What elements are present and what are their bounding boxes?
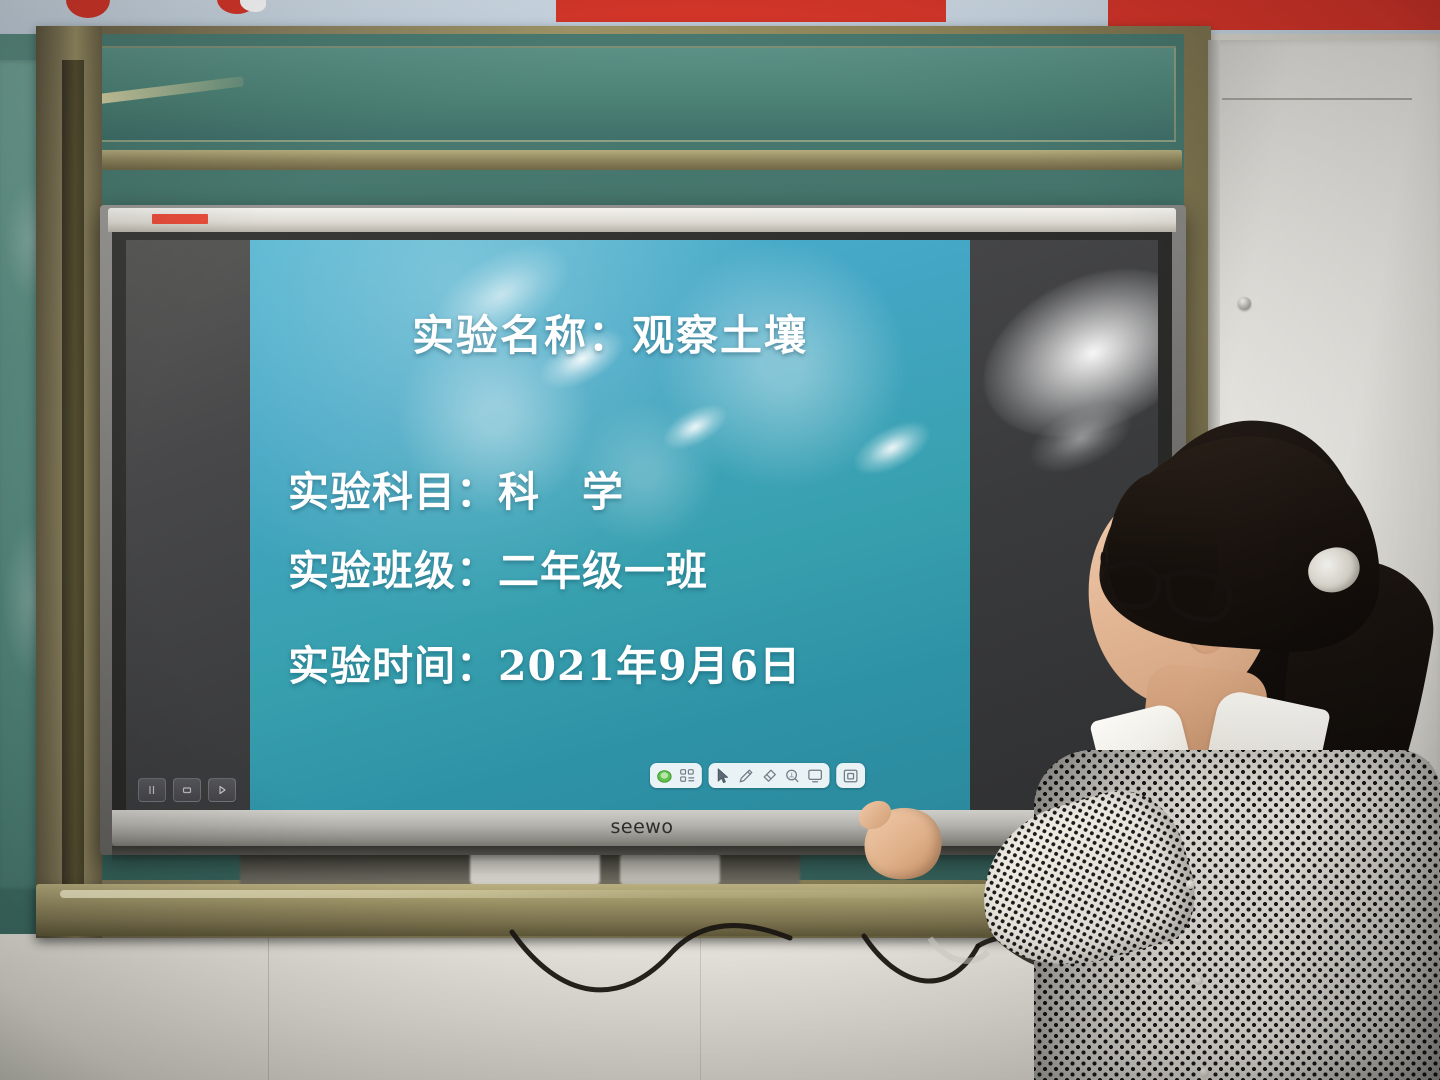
blouse-button	[1186, 880, 1195, 889]
seewo-logo-icon[interactable]	[654, 766, 675, 785]
right-cabinet-seam	[1222, 98, 1412, 100]
upper-chalkboard-strip	[84, 46, 1176, 142]
grid-menu-icon[interactable]	[677, 766, 698, 785]
display-red-sticker	[152, 214, 208, 224]
eraser-icon[interactable]	[758, 766, 779, 785]
menu-button[interactable]	[138, 778, 166, 802]
toolbar-tools-group[interactable]	[709, 763, 830, 788]
blouse-button	[1200, 1068, 1209, 1077]
frame-rail	[78, 150, 1182, 170]
poster-shape-triangle-icon	[66, 0, 110, 18]
board-frame-left-post-shadow	[62, 60, 84, 920]
slide-line-date: 实验时间：2021年9月6日	[288, 646, 948, 687]
toolbar-app-group[interactable]	[650, 763, 702, 788]
screenshot-icon[interactable]	[840, 766, 861, 785]
display-screen[interactable]: 实验名称：观察土壤 实验科目：科 学 实验班级：二年级一班 实验时间：2021年…	[126, 240, 1158, 810]
display-top-bezel	[108, 208, 1176, 232]
power-button[interactable]	[208, 778, 236, 802]
seewo-brand-logo: seewo	[611, 816, 674, 838]
cabinet-screw-icon	[1238, 297, 1251, 310]
classroom-scene: 实验名称：观察土壤 实验科目：科 学 实验班级：二年级一班 实验时间：2021年…	[0, 0, 1440, 1080]
seewo-floating-toolbar[interactable]	[650, 763, 865, 788]
slide-line-class: 实验班级：二年级一班	[288, 551, 948, 592]
home-button[interactable]	[173, 778, 201, 802]
spotlight-icon[interactable]	[782, 766, 803, 785]
slide-body: 实验科目：科 学 实验班级：二年级一班 实验时间：2021年9月6日	[288, 472, 948, 687]
presentation-slide[interactable]: 实验名称：观察土壤 实验科目：科 学 实验班级：二年级一班 实验时间：2021年…	[250, 240, 970, 810]
cursor-icon[interactable]	[712, 766, 733, 785]
board-ledge-gloss	[60, 890, 1060, 898]
slide-glare	[656, 396, 734, 459]
slide-line-subject: 实验科目：科 学	[288, 472, 948, 513]
pen-icon[interactable]	[735, 766, 756, 785]
slide-title: 实验名称：观察土壤	[250, 302, 970, 363]
blouse-button	[1194, 976, 1203, 985]
toolbar-capture-group[interactable]	[836, 763, 865, 788]
poster-red-block	[556, 0, 946, 22]
screen-icon[interactable]	[805, 766, 826, 785]
display-bezel-buttons[interactable]	[138, 778, 236, 802]
teacher-figure	[1010, 410, 1440, 1080]
